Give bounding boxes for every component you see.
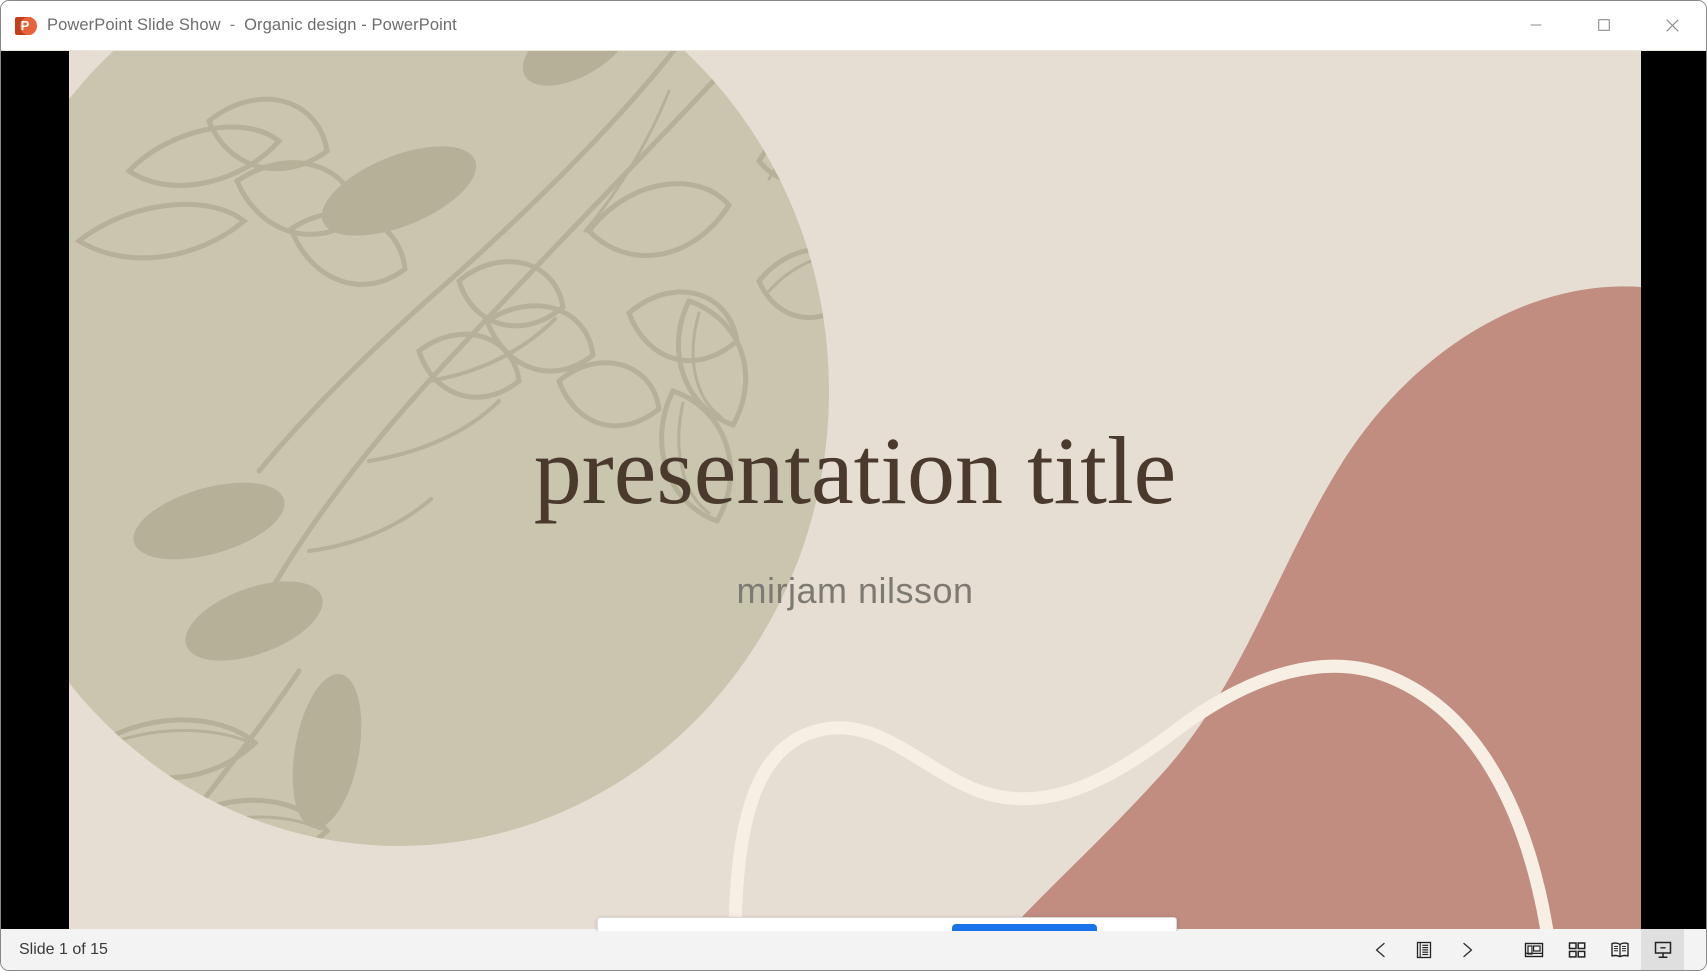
maximize-button[interactable]: [1570, 1, 1638, 50]
minimize-button[interactable]: [1502, 1, 1570, 50]
view-reading-button[interactable]: [1598, 929, 1641, 970]
notes-page-icon: [1414, 940, 1434, 960]
slide-sorter-icon: [1567, 940, 1587, 960]
slide-canvas[interactable]: presentation title mirjam nilsson: [69, 51, 1641, 931]
view-slide-show-button[interactable]: [1641, 929, 1684, 970]
powerpoint-icon: P: [15, 15, 37, 37]
maximize-icon: [1598, 19, 1610, 31]
chevron-right-icon: [1458, 941, 1476, 959]
previous-slide-button[interactable]: [1359, 929, 1402, 970]
normal-view-icon: [1523, 940, 1545, 960]
stop-sharing-button[interactable]: Stop sharing: [952, 924, 1097, 931]
slideshow-stage[interactable]: presentation title mirjam nilsson us04we…: [1, 51, 1707, 931]
slide-graphics: presentation title mirjam nilsson: [69, 51, 1641, 931]
document-title: Organic design - PowerPoint: [244, 16, 457, 35]
window-frame: P PowerPoint Slide Show - Organic design…: [0, 0, 1707, 971]
slide-counter: Slide 1 of 15: [19, 941, 108, 959]
close-icon: [1666, 19, 1679, 32]
status-bar-controls: [1359, 929, 1706, 970]
slide-show-icon: [1652, 940, 1674, 960]
powerpoint-slideshow-window: P PowerPoint Slide Show - Organic design…: [0, 0, 1707, 971]
minimize-icon: [1530, 19, 1542, 31]
window-title: PowerPoint Slide Show: [47, 16, 221, 35]
slide-subtitle-text: mirjam nilsson: [736, 570, 973, 611]
view-slide-sorter-button[interactable]: [1555, 929, 1598, 970]
window-controls: [1502, 1, 1706, 51]
close-button[interactable]: [1638, 1, 1706, 50]
view-normal-button[interactable]: [1512, 929, 1555, 970]
title-separator: -: [230, 16, 236, 35]
title-bar: P PowerPoint Slide Show - Organic design…: [1, 1, 1706, 51]
slide-menu-button[interactable]: [1402, 929, 1445, 970]
screen-sharing-notification: us04web.zoom.us is sharing a window. Sto…: [597, 917, 1177, 931]
chevron-left-icon: [1372, 941, 1390, 959]
next-slide-button[interactable]: [1445, 929, 1488, 970]
reading-view-icon: [1609, 940, 1631, 960]
slide-title-text: presentation title: [534, 417, 1176, 524]
status-bar: Slide 1 of 15: [1, 929, 1706, 970]
